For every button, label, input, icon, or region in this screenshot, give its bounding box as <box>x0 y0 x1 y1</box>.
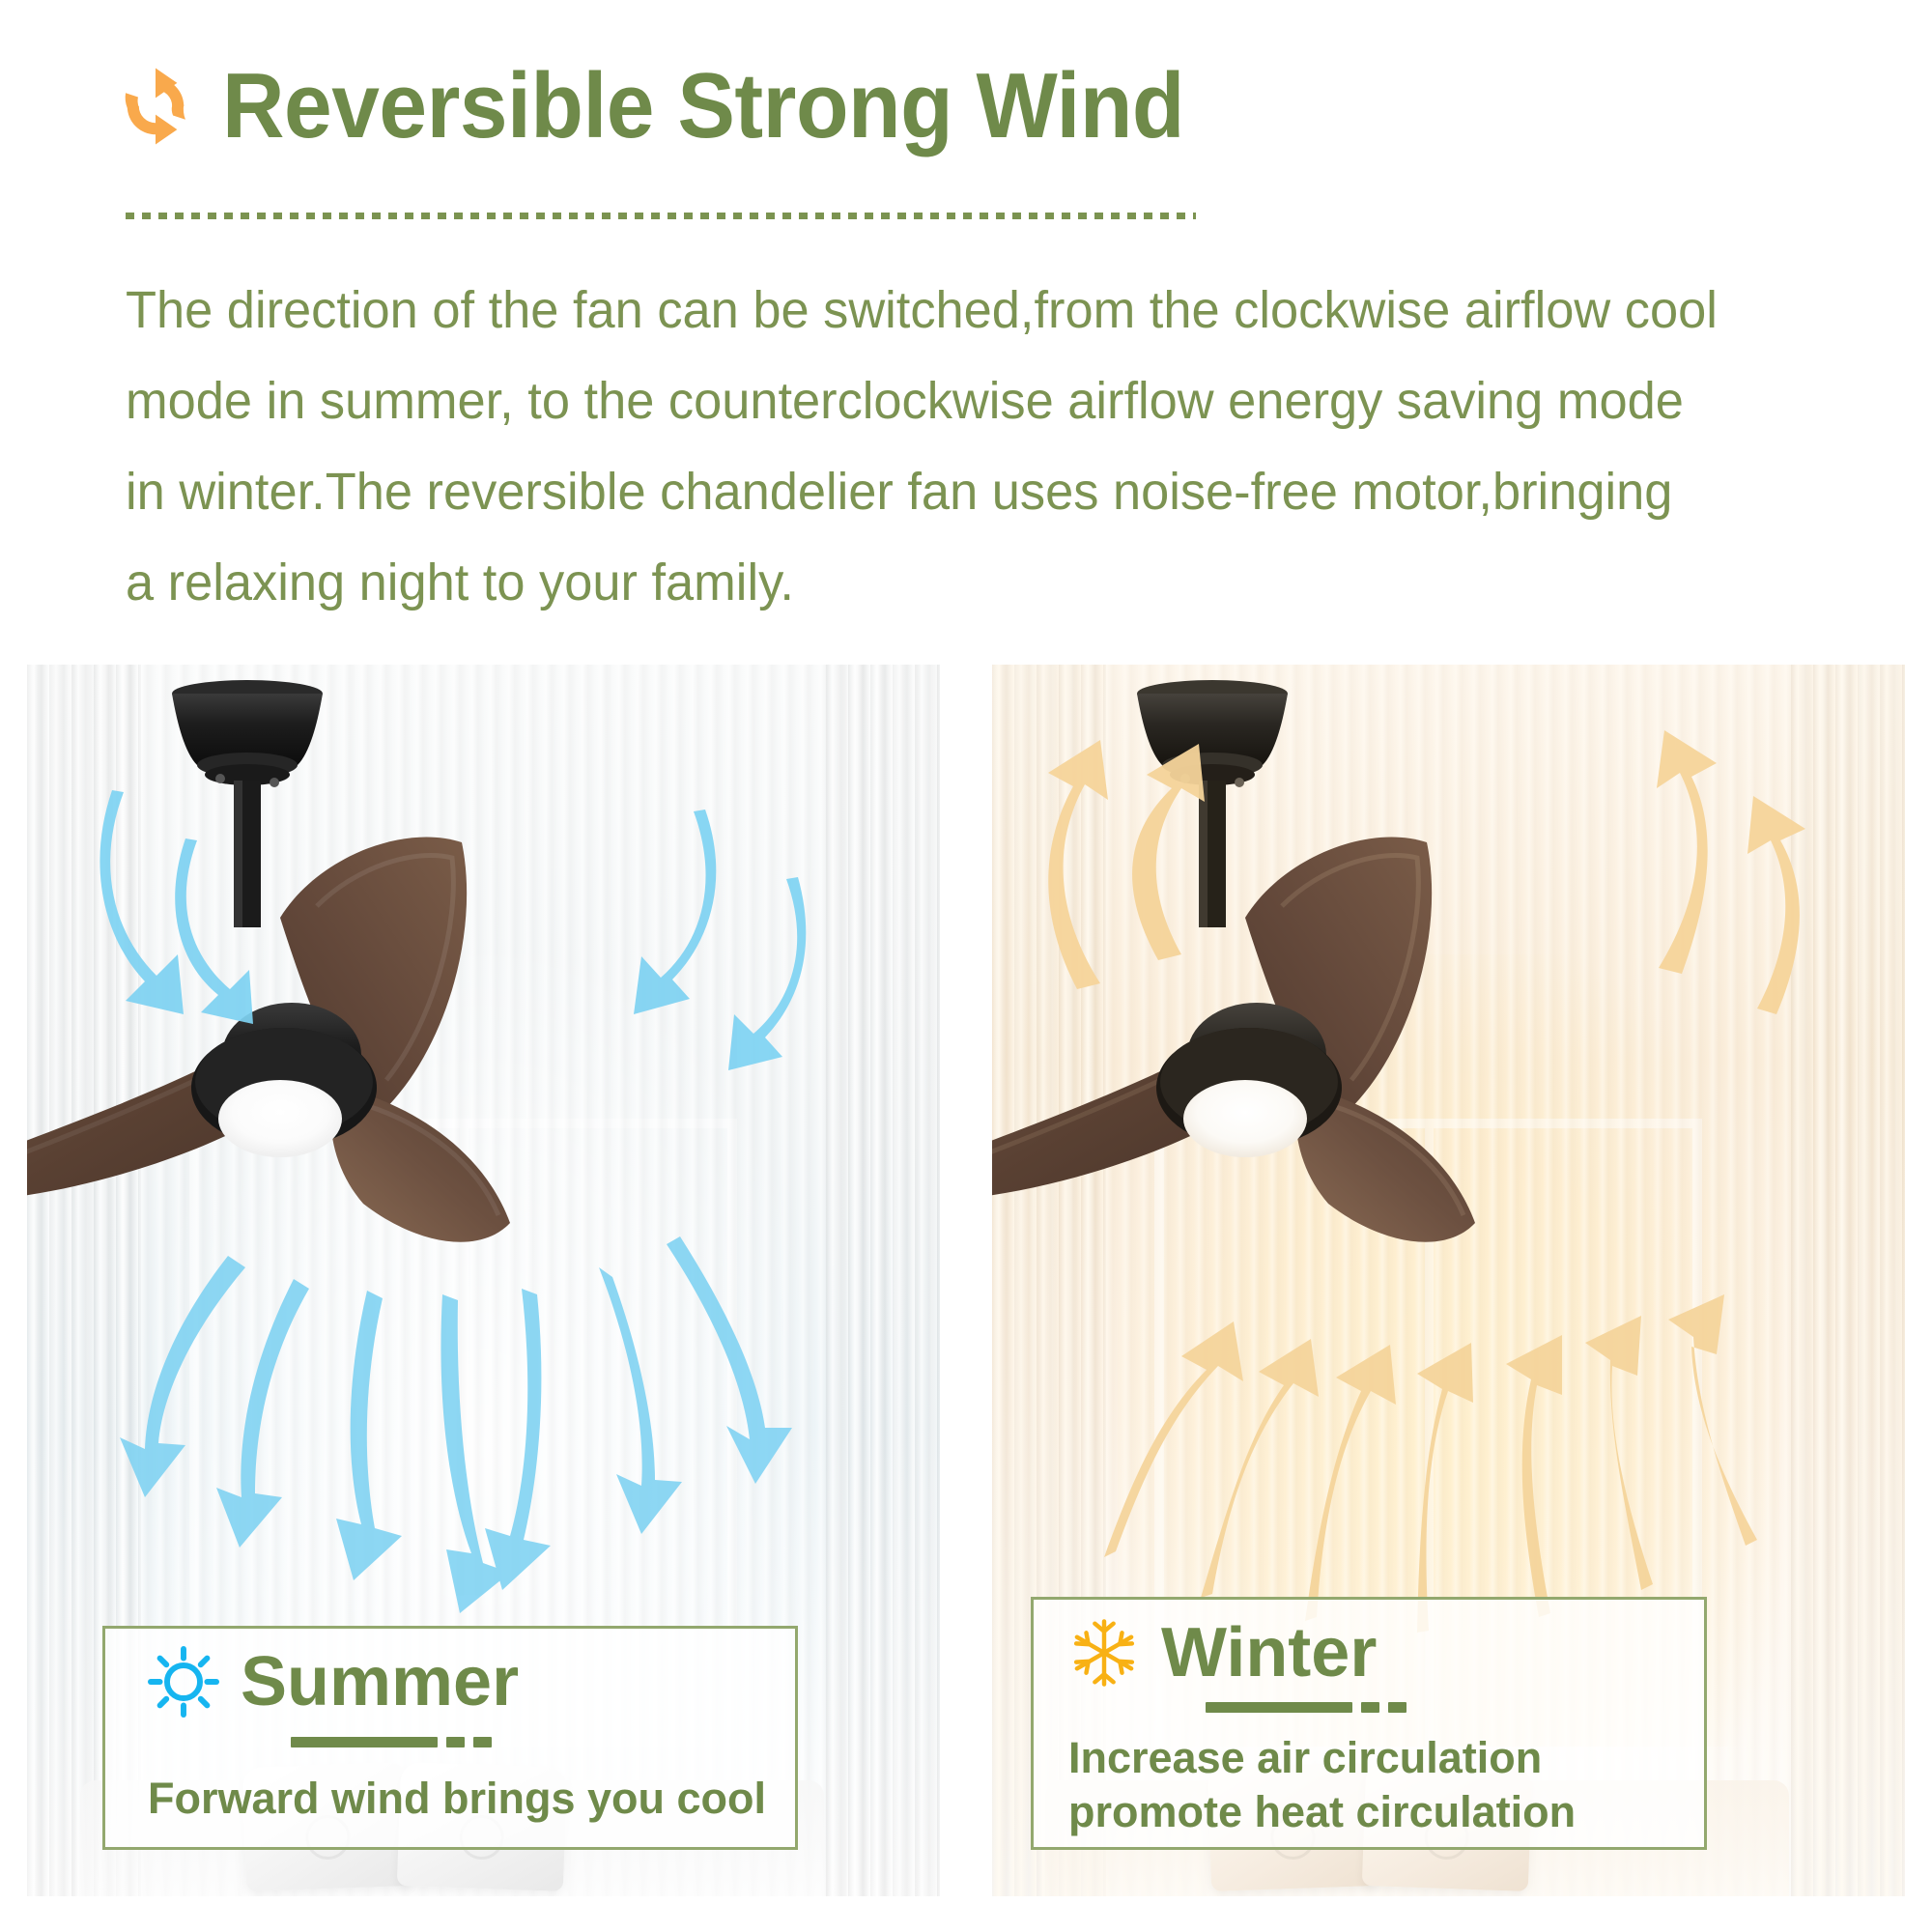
winter-panel: Winter Increase air circulation promote … <box>992 665 1905 1896</box>
winter-caption-box: Winter Increase air circulation promote … <box>1031 1597 1707 1850</box>
summer-caption-head: Summer <box>105 1629 795 1718</box>
summer-title: Summer <box>241 1647 519 1717</box>
curtain-drape-right <box>1791 665 1905 1896</box>
winter-caption-head: Winter <box>1034 1600 1704 1689</box>
sun-icon <box>148 1646 219 1718</box>
winter-title: Winter <box>1161 1618 1377 1688</box>
header-divider <box>126 213 1196 219</box>
winter-caption-text: Increase air circulation promote heat ci… <box>1068 1731 1576 1839</box>
paragraph-line: mode in summer, to the counterclockwise … <box>126 355 1803 446</box>
winter-underline <box>1206 1702 1406 1713</box>
paragraph-line: a relaxing night to your family. <box>126 537 1803 628</box>
summer-panel: Summer Forward wind brings you cool <box>27 665 940 1896</box>
title-row: Reversible Strong Wind <box>114 50 1853 162</box>
header: Reversible Strong Wind The direction of … <box>114 50 1853 162</box>
summer-caption-box: Summer Forward wind brings you cool <box>102 1626 798 1850</box>
paragraph-line: The direction of the fan can be switched… <box>126 265 1803 355</box>
description-paragraph: The direction of the fan can be switched… <box>126 265 1803 628</box>
summer-caption-text: Forward wind brings you cool <box>148 1772 766 1826</box>
curtain-drape-right <box>826 665 940 1896</box>
snowflake-icon <box>1068 1617 1140 1689</box>
refresh-cycle-icon <box>114 65 197 148</box>
page-title: Reversible Strong Wind <box>222 60 1184 153</box>
summer-underline <box>291 1737 492 1747</box>
panel-row: Summer Forward wind brings you cool <box>0 665 1932 1896</box>
paragraph-line: in winter.The reversible chandelier fan … <box>126 446 1803 537</box>
caption-line: Increase air circulation <box>1068 1731 1576 1785</box>
infographic-page: Reversible Strong Wind The direction of … <box>0 0 1932 1932</box>
caption-line: Forward wind brings you cool <box>148 1772 766 1826</box>
caption-line: promote heat circulation <box>1068 1785 1576 1839</box>
